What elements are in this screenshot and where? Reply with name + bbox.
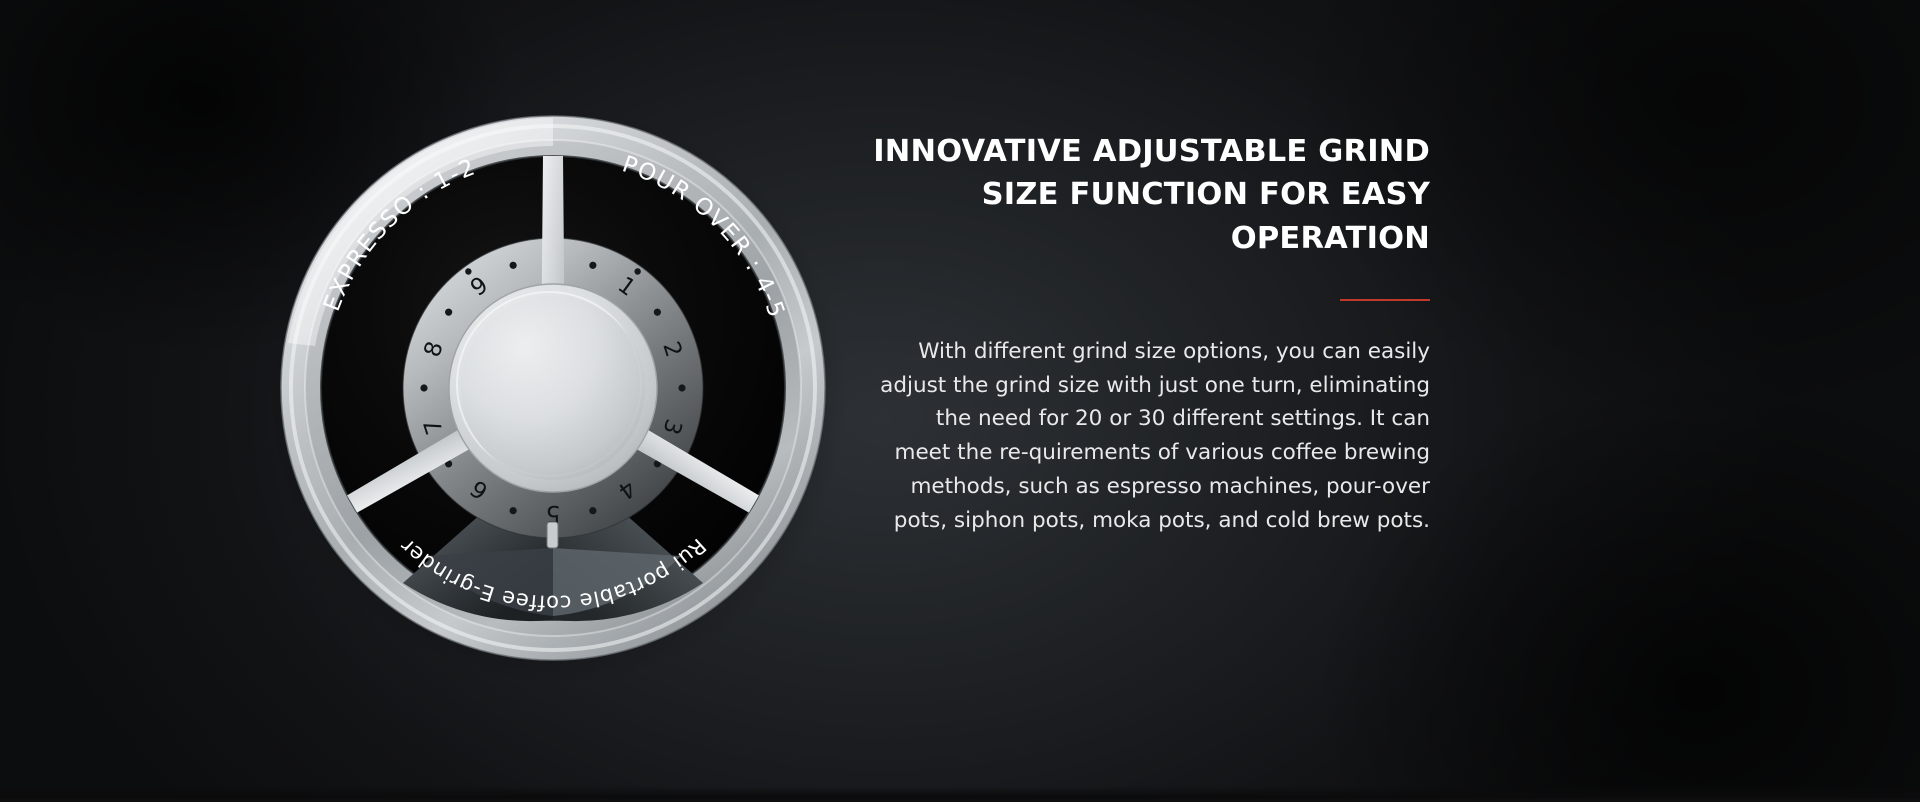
product-image-grinder-dial: 1 1 2 3 4 5 6 7 8 9 <box>243 78 863 698</box>
accent-divider-line <box>1340 299 1430 301</box>
grind-index-pointer <box>547 522 558 548</box>
product-feature-banner: 1 1 2 3 4 5 6 7 8 9 <box>0 0 1920 802</box>
body-paragraph: With different grind size options, you c… <box>860 335 1480 538</box>
divider <box>860 290 1480 309</box>
copy-panel: INNOVATIVE ADJUSTABLE GRIND SIZE FUNCTIO… <box>860 130 1480 537</box>
page-title: INNOVATIVE ADJUSTABLE GRIND SIZE FUNCTIO… <box>860 130 1480 260</box>
grinder-dial-graphic: 1 1 2 3 4 5 6 7 8 9 <box>243 78 863 698</box>
